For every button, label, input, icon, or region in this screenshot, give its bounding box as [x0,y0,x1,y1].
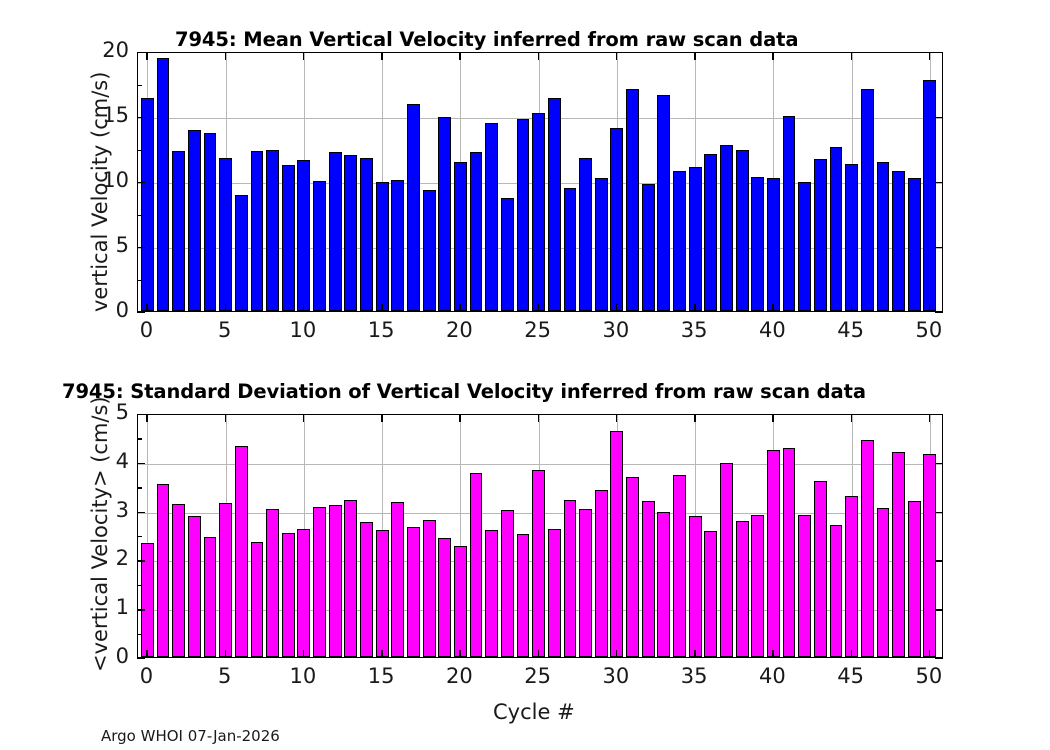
bar [313,181,326,311]
bar [923,80,936,311]
x-tick-label: 40 [742,664,802,688]
bar [376,182,389,311]
bar [470,152,483,311]
bar [861,89,874,311]
x-tick-mark [772,650,773,658]
bar [344,500,357,657]
x-tick-mark [851,650,852,658]
y-minor-tick [137,215,142,216]
x-tick-mark [616,650,617,658]
y-axis-label-std: <vertical Velocity> (cm/s) [88,396,112,672]
x-tick-mark-top [929,52,930,60]
bar [861,440,874,657]
bar [391,180,404,311]
bar [532,470,545,657]
x-tick-label: 25 [508,664,568,688]
bar [517,119,530,311]
bar [626,89,639,311]
x-tick-mark-top [381,52,382,60]
x-tick-mark [929,304,930,312]
bar [798,182,811,311]
bar [877,508,890,657]
x-tick-mark-top [851,414,852,422]
bar [329,152,342,311]
x-tick-label: 50 [899,664,959,688]
x-tick-mark [303,650,304,658]
y-minor-tick [137,634,142,635]
bar [689,167,702,311]
bar [548,529,561,657]
y-tick-mark [137,560,145,561]
y-tick-mark [137,247,145,248]
y-tick-label: 2 [69,546,129,570]
bar [783,448,796,657]
x-tick-mark [694,304,695,312]
bar [830,525,843,657]
bar [470,473,483,657]
x-tick-mark [538,650,539,658]
y-minor-tick [137,536,142,537]
x-tick-mark-top [303,52,304,60]
chart-title-std: 7945: Standard Deviation of Vertical Vel… [62,380,866,403]
x-tick-label: 20 [429,318,489,342]
y-tick-mark-right [935,52,943,53]
bar [188,516,201,657]
x-tick-mark [694,650,695,658]
bar [767,450,780,657]
bar [438,117,451,311]
x-axis-label-std: Cycle # [493,700,575,724]
x-tick-mark-top [772,52,773,60]
y-tick-label: 1 [69,595,129,619]
bar [767,178,780,311]
y-tick-mark [137,609,145,610]
bar [923,454,936,657]
bar [454,162,467,312]
x-tick-mark-top [772,414,773,422]
y-minor-tick [137,487,142,488]
bar [720,145,733,311]
bar [219,503,232,657]
x-tick-mark [225,304,226,312]
gridline-horizontal [138,464,942,465]
bar [423,190,436,311]
y-tick-label: 5 [69,233,129,257]
x-tick-label: 15 [351,664,411,688]
y-tick-label: 15 [69,103,129,127]
y-tick-mark [137,312,145,313]
bar [579,158,592,311]
bar [391,502,404,657]
x-tick-label: 30 [586,664,646,688]
bar [329,505,342,657]
x-tick-label: 5 [195,318,255,342]
x-tick-label: 25 [508,318,568,342]
bar [266,150,279,311]
x-tick-label: 20 [429,664,489,688]
y-tick-mark [137,414,145,415]
x-tick-mark-top [303,414,304,422]
bar [830,147,843,311]
bar [657,512,670,657]
y-tick-mark-right [935,560,943,561]
bar [610,128,623,311]
x-tick-label: 30 [586,318,646,342]
x-tick-mark [381,304,382,312]
plot-area-std [137,414,943,658]
x-tick-mark [381,650,382,658]
bar [251,151,264,311]
y-tick-label: 0 [69,298,129,322]
bar [814,159,827,311]
x-tick-mark-top [694,52,695,60]
bar [579,509,592,657]
x-tick-mark [772,304,773,312]
bar [564,500,577,657]
bar [564,188,577,312]
argo-vertical-velocity-figure: 7945: Mean Vertical Velocity inferred fr… [0,0,1050,750]
bar [892,452,905,657]
bar [595,178,608,311]
bar [423,520,436,657]
bar [407,104,420,311]
y-tick-mark [137,52,145,53]
bar [908,178,921,311]
bar [704,531,717,657]
bar [532,113,545,311]
bar [501,198,514,311]
bar [814,481,827,657]
y-tick-mark-right [935,609,943,610]
bar [235,195,248,311]
plot-area-mean [137,52,943,312]
bar [438,538,451,657]
x-tick-label: 45 [821,664,881,688]
bar [736,521,749,657]
bar [720,463,733,657]
y-tick-mark [137,512,145,513]
y-tick-mark-right [935,312,943,313]
x-tick-label: 35 [664,318,724,342]
x-tick-label: 10 [273,664,333,688]
bar [251,542,264,657]
x-tick-mark [225,650,226,658]
bar [845,496,858,657]
bar [204,537,217,657]
bar [642,501,655,657]
bar [892,171,905,311]
y-tick-mark [137,658,145,659]
x-tick-mark [459,650,460,658]
bar [172,504,185,657]
bar [407,527,420,657]
bar [204,133,217,311]
y-tick-mark [137,463,145,464]
bar [501,510,514,657]
y-tick-mark [137,182,145,183]
y-tick-label: 10 [69,168,129,192]
y-tick-mark-right [935,117,943,118]
x-tick-mark-top [459,414,460,422]
x-tick-mark-top [616,414,617,422]
y-tick-label: 4 [69,449,129,473]
x-tick-mark [303,304,304,312]
bar [360,522,373,657]
x-tick-mark-top [616,52,617,60]
footer-credit: Argo WHOI 07-Jan-2026 [101,727,280,745]
bar [704,154,717,311]
x-tick-label: 15 [351,318,411,342]
x-tick-mark [538,304,539,312]
bar [235,446,248,657]
bar [689,516,702,657]
y-tick-mark-right [935,414,943,415]
x-tick-label: 35 [664,664,724,688]
bar [485,123,498,312]
bar [344,155,357,311]
bar [517,534,530,657]
bar [626,477,639,657]
bar [751,177,764,311]
x-tick-label: 10 [273,318,333,342]
bar [798,515,811,657]
bar [657,95,670,311]
bar [360,158,373,311]
x-tick-mark [146,650,147,658]
bar [485,530,498,657]
bar [266,509,279,657]
bar [736,150,749,311]
bar [908,501,921,657]
bar [376,530,389,657]
x-tick-mark-top [538,414,539,422]
x-tick-mark [929,650,930,658]
y-tick-mark-right [935,182,943,183]
x-tick-mark [459,304,460,312]
bar [282,533,295,657]
x-tick-mark [616,304,617,312]
bar [282,165,295,311]
x-tick-label: 40 [742,318,802,342]
bar [297,160,310,311]
x-tick-mark-top [225,52,226,60]
x-tick-mark [146,304,147,312]
bar [642,184,655,311]
bar [157,484,170,657]
x-tick-label: 50 [899,318,959,342]
x-tick-mark-top [694,414,695,422]
bar [610,431,623,657]
bar [783,116,796,311]
x-tick-mark-top [225,414,226,422]
y-tick-mark-right [935,247,943,248]
y-tick-label: 0 [69,644,129,668]
bar [595,490,608,657]
bar [751,515,764,657]
bar [141,98,154,311]
y-tick-label: 20 [69,38,129,62]
y-minor-tick [137,85,142,86]
y-tick-mark-right [935,658,943,659]
x-tick-mark [851,304,852,312]
y-minor-tick [137,150,142,151]
y-tick-mark-right [935,463,943,464]
bar [313,507,326,657]
x-tick-mark-top [381,414,382,422]
x-tick-mark-top [538,52,539,60]
bar [188,130,201,311]
bar [454,546,467,657]
bar [157,58,170,312]
x-tick-mark-top [146,414,147,422]
y-minor-tick [137,438,142,439]
x-tick-mark-top [851,52,852,60]
bar [548,98,561,311]
y-minor-tick [137,280,142,281]
x-tick-mark-top [146,52,147,60]
bar [673,475,686,657]
bar [172,151,185,311]
y-tick-mark [137,117,145,118]
x-tick-label: 5 [195,664,255,688]
bar [219,158,232,311]
y-minor-tick [137,585,142,586]
x-tick-label: 45 [821,318,881,342]
y-tick-mark-right [935,512,943,513]
x-tick-mark-top [929,414,930,422]
bar [297,529,310,657]
chart-title-mean: 7945: Mean Vertical Velocity inferred fr… [175,28,798,51]
bar [673,171,686,311]
x-tick-mark-top [459,52,460,60]
bar [845,164,858,311]
bar [877,162,890,312]
y-tick-label: 3 [69,498,129,522]
y-tick-label: 5 [69,400,129,424]
